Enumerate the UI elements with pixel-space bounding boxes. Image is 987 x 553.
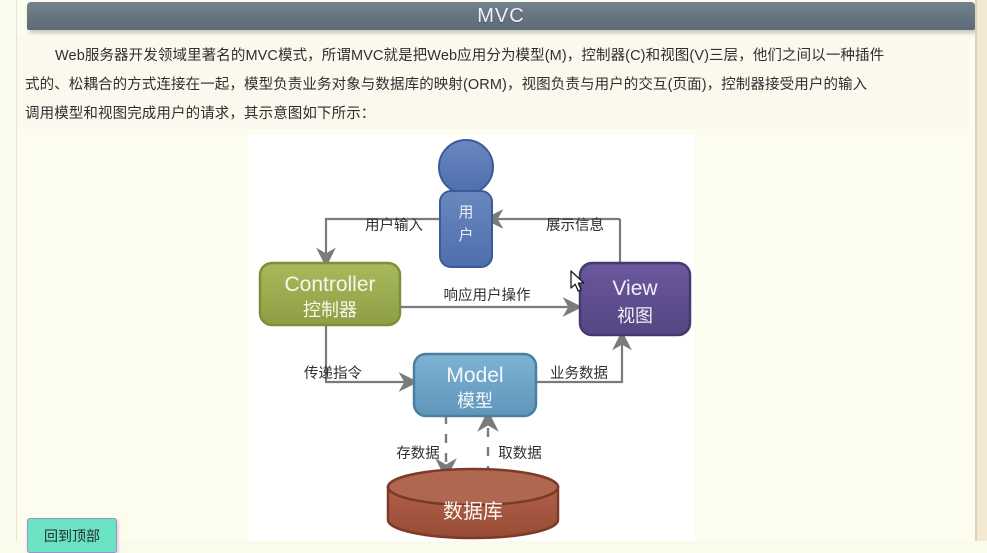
node-model-subtitle: 模型 [457,391,493,411]
node-controller[interactable]: Controller 控制器 [260,263,400,325]
page-right-divider [975,0,977,541]
page-title: MVC [477,5,524,28]
edge-label-user-input: 用户输入 [365,217,423,234]
node-user[interactable]: 用 户 [439,140,493,267]
back-to-top-label: 回到顶部 [44,526,100,546]
intro-line-2: 式的、松耦合的方式连接在一起，模型负责业务对象与数据库的映射(ORM)，视图负责… [25,71,959,100]
edge-label-store-data: 存数据 [396,445,440,462]
node-view-subtitle: 视图 [617,306,653,326]
node-user-label-2: 户 [458,227,473,244]
node-database-label: 数据库 [443,500,503,523]
mvc-diagram-panel: 用 户 Controller 控制器 View 视图 Model 模型 [248,135,695,541]
node-view[interactable]: View 视图 [580,263,690,335]
page-left-gutter [0,0,17,541]
edge-label-pass-command: 传递指令 [304,365,362,382]
intro-line-1: Web服务器开发领域里著名的MVC模式，所谓MVC就是把Web应用分为模型(M)… [25,42,959,71]
page-title-bar: MVC [27,2,975,30]
intro-line-3: 调用模型和视图完成用户的请求，其示意图如下所示： [25,100,959,129]
node-model[interactable]: Model 模型 [414,354,536,416]
back-to-top-button[interactable]: 回到顶部 [27,518,117,553]
edge-label-fetch-data: 取数据 [498,445,542,462]
node-user-label-1: 用 [458,204,473,221]
edge-label-show-info: 展示信息 [546,217,604,234]
intro-paragraph: Web服务器开发领域里著名的MVC模式，所谓MVC就是把Web应用分为模型(M)… [17,36,969,129]
mvc-diagram: 用 户 Controller 控制器 View 视图 Model 模型 [248,135,695,541]
edge-label-respond-user-action: 响应用户操作 [444,286,531,304]
node-database[interactable]: 数据库 [388,469,558,538]
page-root: MVC Web服务器开发领域里著名的MVC模式，所谓MVC就是把Web应用分为模… [0,0,987,541]
node-controller-subtitle: 控制器 [303,300,357,320]
node-model-title: Model [446,364,503,387]
edge-label-business-data: 业务数据 [550,365,608,382]
node-view-title: View [612,277,658,300]
node-controller-title: Controller [284,273,375,296]
